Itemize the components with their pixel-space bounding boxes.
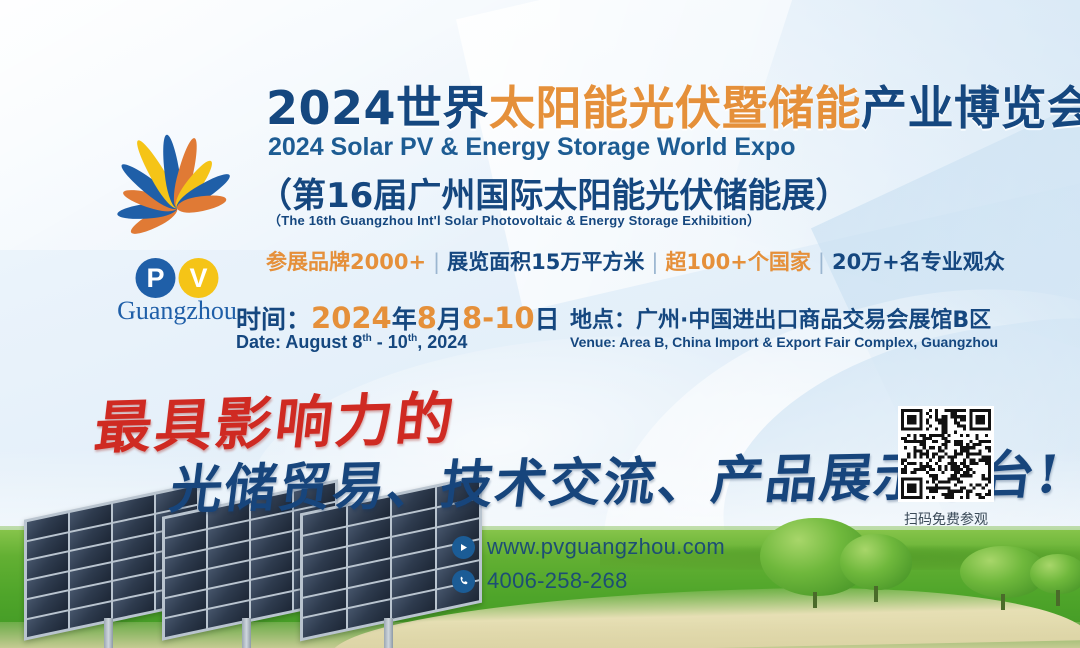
date-english: Date: August 8th - 10th, 2024 — [236, 332, 467, 353]
stats-item: 20万+名专业观众 — [832, 250, 1005, 274]
pv-monogram: P V — [136, 258, 219, 298]
expo-banner: P V Guangzhou 2024世界太阳能光伏暨储能产业博览会 2024 S… — [0, 0, 1080, 648]
headline-part-2: 太阳能光伏暨储能 — [489, 81, 861, 135]
date-label: 时间： — [236, 305, 311, 334]
stats-separator: | — [426, 250, 447, 274]
qr-code[interactable] — [898, 406, 994, 502]
stats-item: 参展品牌2000+ — [266, 250, 426, 274]
date-month-unit: 月 — [437, 305, 462, 334]
tree-icon — [840, 534, 912, 590]
stats-separator: | — [811, 250, 832, 274]
date-day-unit: 日 — [535, 305, 560, 334]
contact-block: www.pvguangzhou.com 4006-258-268 — [452, 534, 725, 602]
date-chinese: 时间：2024年8月8-10日 — [236, 300, 560, 336]
headline-part-3: 产业博览会 — [861, 81, 1080, 135]
date-en-prefix: Date: August 8 — [236, 332, 362, 352]
website-text: www.pvguangzhou.com — [487, 534, 725, 560]
stats-separator: | — [644, 250, 665, 274]
tree-icon — [1030, 554, 1080, 594]
subtitle-english: 2024 Solar PV & Energy Storage World Exp… — [268, 133, 795, 162]
phone-text: 4006-258-268 — [487, 568, 628, 594]
venue-chinese: 地点：广州·中国进出口商品交易会展馆B区 — [570, 302, 991, 334]
headline-part-1: 2024世界 — [266, 81, 489, 135]
logo-letter-p: P — [136, 258, 176, 298]
date-en-sup-2: th — [408, 333, 417, 344]
phone-row[interactable]: 4006-258-268 — [452, 568, 725, 594]
page-title: 2024世界太阳能光伏暨储能产业博览会 — [266, 72, 1080, 138]
date-days: 8-10 — [462, 301, 535, 335]
phone-icon — [452, 570, 475, 593]
qr-block: 扫码免费参观 — [898, 406, 994, 529]
logo-wordmark: Guangzhou — [117, 296, 237, 326]
date-year-unit: 年 — [392, 305, 417, 334]
edition-title-english: （The 16th Guangzhou Int'l Solar Photovol… — [268, 210, 760, 229]
date-en-suffix: , 2024 — [417, 332, 467, 352]
qr-caption: 扫码免费参观 — [898, 509, 994, 529]
play-icon — [452, 536, 475, 559]
date-month: 8 — [417, 301, 437, 335]
date-en-sup-1: th — [362, 333, 371, 344]
venue-english: Venue: Area B, China Import & Export Fai… — [570, 334, 998, 350]
website-row[interactable]: www.pvguangzhou.com — [452, 534, 725, 560]
stats-item: 展览面积15万平方米 — [447, 250, 644, 274]
logo-letter-v: V — [179, 258, 219, 298]
stats-item: 超100+个国家 — [665, 250, 810, 274]
date-year: 2024 — [311, 301, 392, 335]
date-en-mid: - 10 — [372, 332, 408, 352]
stats-line: 参展品牌2000+|展览面积15万平方米|超100+个国家|20万+名专业观众 — [266, 246, 1005, 276]
